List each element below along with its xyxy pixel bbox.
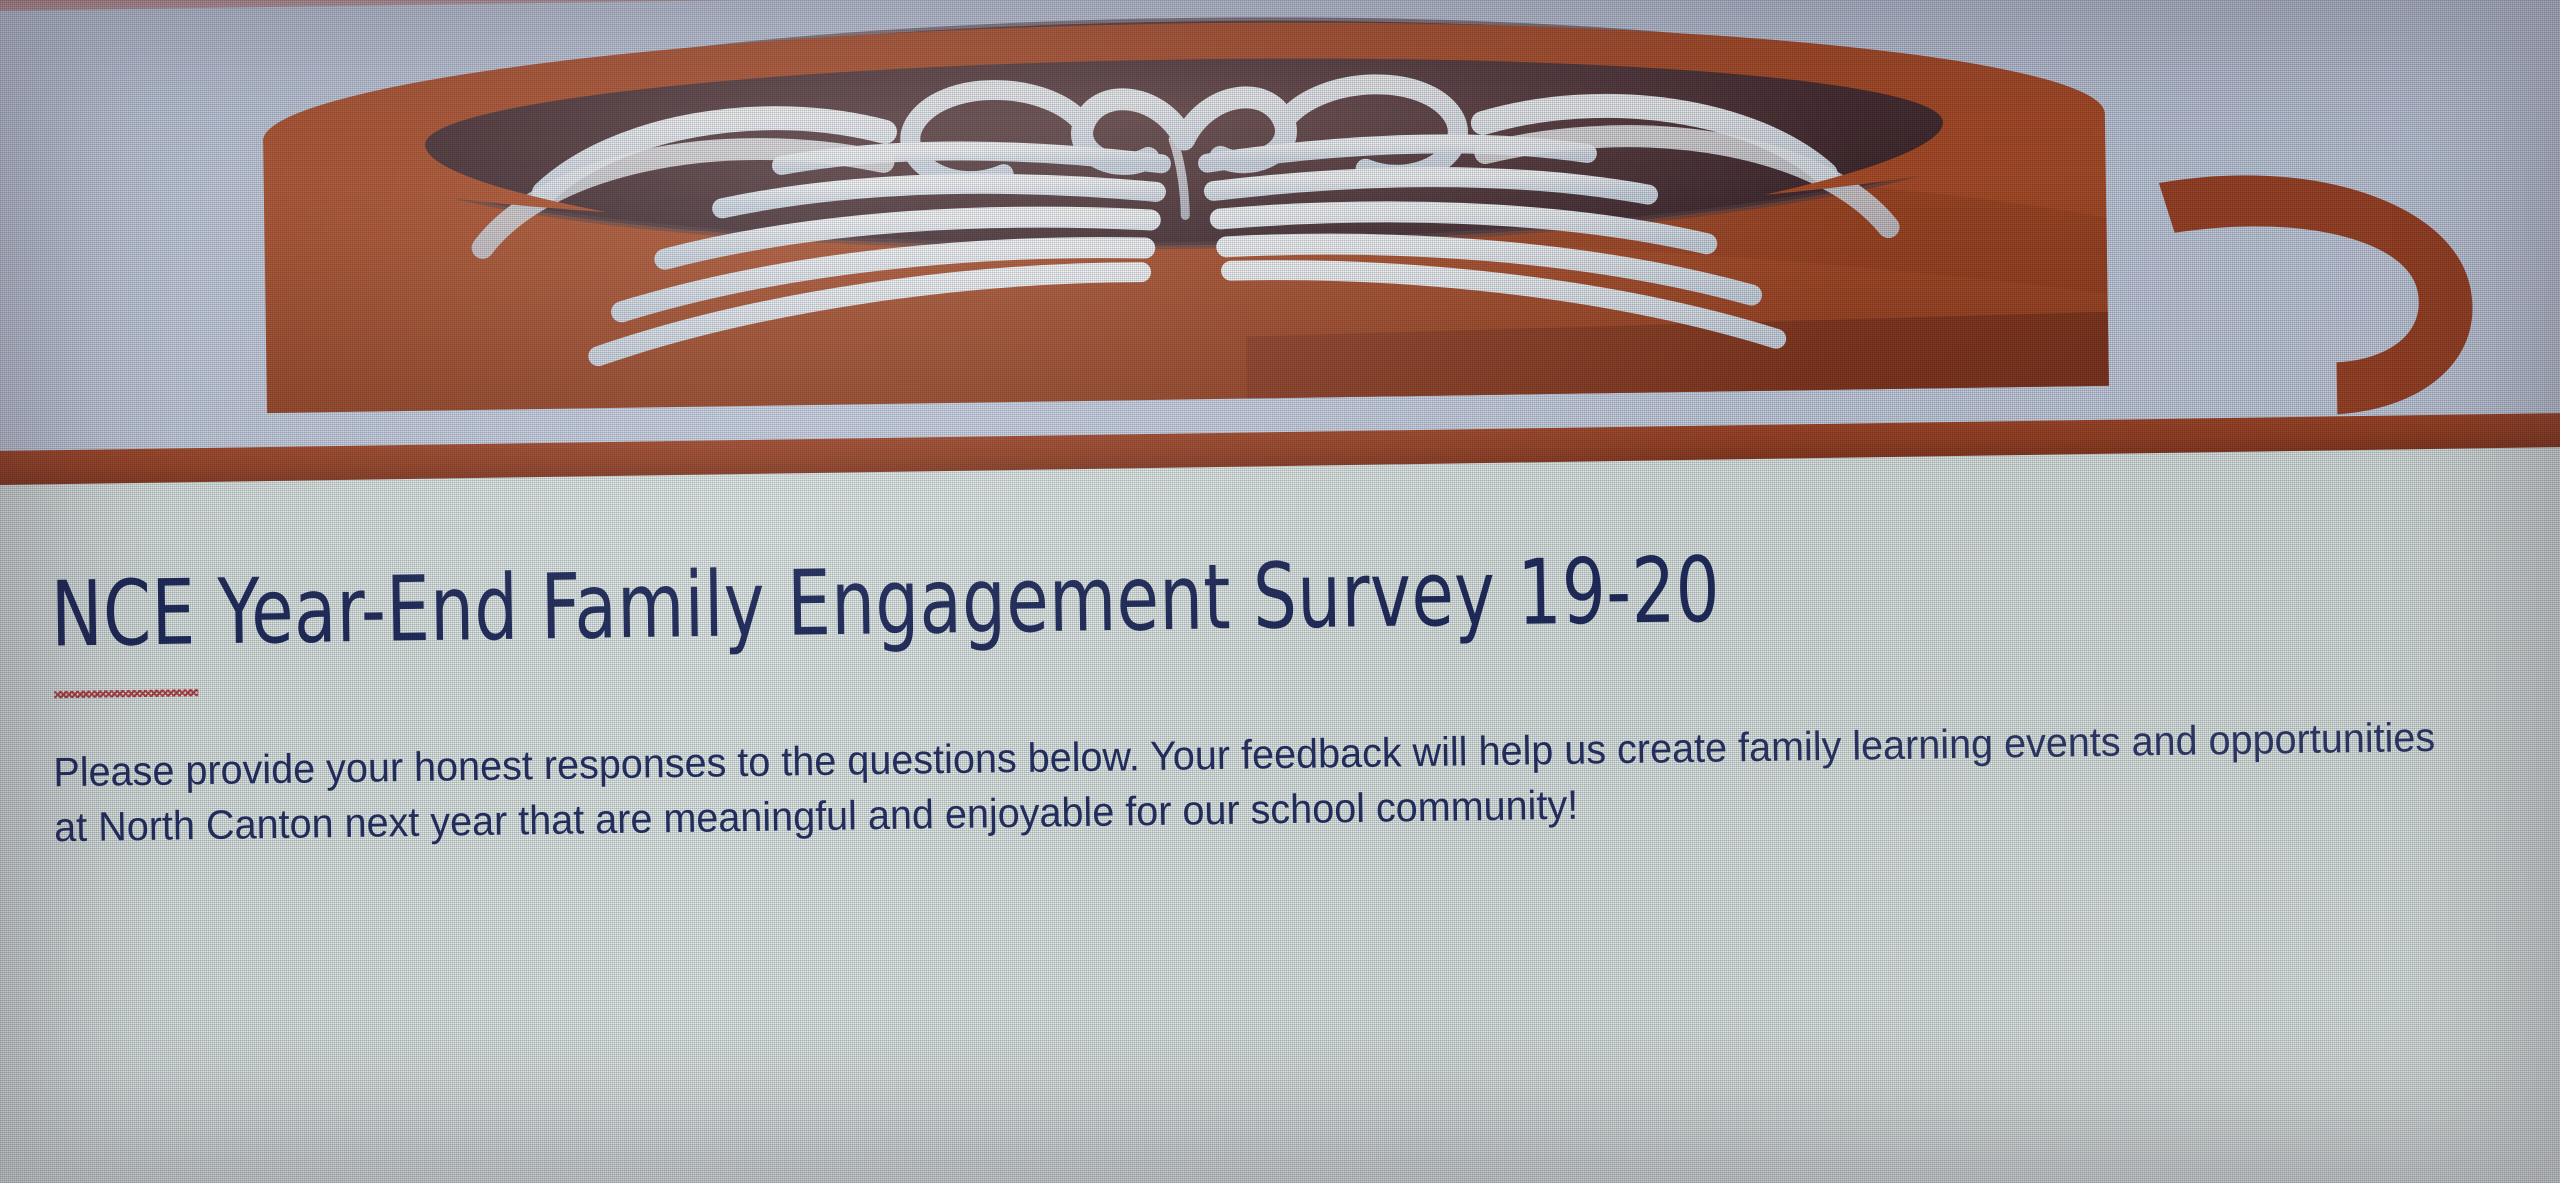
form-header-banner — [0, 0, 2560, 484]
google-form-page: NCE Year-End Family Engagement Survey 19… — [0, 0, 2560, 1183]
form-card: NCE Year-End Family Engagement Survey 19… — [0, 445, 2560, 1183]
form-description[interactable]: Please provide your honest responses to … — [53, 710, 2448, 855]
cup-handle-icon — [2159, 172, 2474, 417]
monitor-photo: NCE Year-End Family Engagement Survey 19… — [0, 0, 2560, 1183]
spellcheck-underline — [54, 689, 198, 698]
form-title[interactable]: NCE Year-End Family Engagement Survey 19… — [50, 545, 1720, 662]
latte-art-coffee-cup-illustration — [241, 0, 2508, 481]
coffee-cup-svg — [241, 0, 2508, 481]
